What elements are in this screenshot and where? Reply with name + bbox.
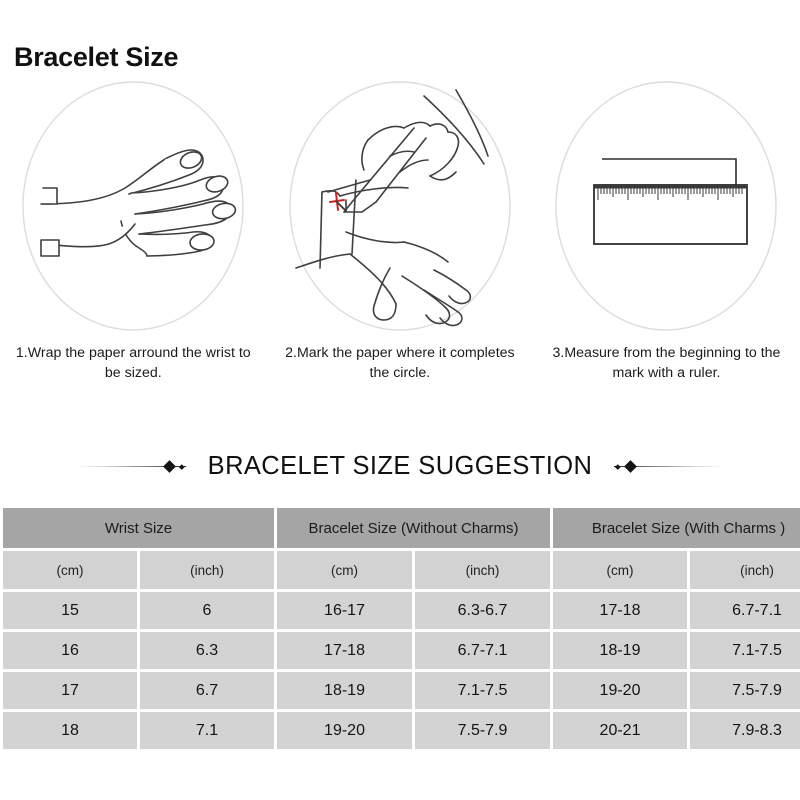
- bracelet-size-table: Wrist Size Bracelet Size (Without Charms…: [0, 505, 800, 752]
- table-cell: 18-19: [553, 632, 687, 669]
- table-cell: 18: [3, 712, 137, 749]
- table-cell: 7.1-7.5: [690, 632, 800, 669]
- section-title-row: BRACELET SIZE SUGGESTION: [0, 452, 800, 481]
- steps-row: 1.Wrap the paper arround the wrist to be…: [0, 80, 800, 383]
- table-cell: 6.7-7.1: [415, 632, 550, 669]
- ruler-measuring-paper-illustration: [550, 80, 782, 335]
- table-cell: 16: [3, 632, 137, 669]
- section-title: BRACELET SIZE SUGGESTION: [186, 452, 615, 481]
- table-cell: 18-19: [277, 672, 412, 709]
- step-wrap-paper: 1.Wrap the paper arround the wrist to be…: [0, 80, 267, 383]
- table-cell: 7.5-7.9: [690, 672, 800, 709]
- step-caption: 3.Measure from the beginning to the mark…: [548, 343, 784, 383]
- ornament-rule-left-icon: [74, 460, 186, 474]
- hand-with-paper-strip-illustration: [17, 80, 249, 335]
- table-group-header-row: Wrist Size Bracelet Size (Without Charms…: [3, 508, 800, 548]
- step-caption: 2.Mark the paper where it completes the …: [282, 343, 518, 383]
- step-caption: 1.Wrap the paper arround the wrist to be…: [15, 343, 251, 383]
- table-cell: 6.7-7.1: [690, 592, 800, 629]
- table-unit-header: (cm): [553, 551, 687, 589]
- table-cell: 20-21: [553, 712, 687, 749]
- table-row: 16 6.3 17-18 6.7-7.1 18-19 7.1-7.5: [3, 632, 800, 669]
- table-unit-header: (inch): [690, 551, 800, 589]
- table-cell: 6.7: [140, 672, 274, 709]
- table-unit-header-row: (cm) (inch) (cm) (inch) (cm) (inch): [3, 551, 800, 589]
- table-cell: 17: [3, 672, 137, 709]
- table-cell: 16-17: [277, 592, 412, 629]
- table-cell: 19-20: [277, 712, 412, 749]
- table-cell: 17-18: [277, 632, 412, 669]
- step-mark-paper: 2.Mark the paper where it completes the …: [267, 80, 534, 383]
- table-cell: 7.1: [140, 712, 274, 749]
- table-unit-header: (cm): [277, 551, 412, 589]
- table-cell: 6.3: [140, 632, 274, 669]
- ornament-rule-right-icon: [614, 460, 726, 474]
- step-measure-ruler: 3.Measure from the beginning to the mark…: [533, 80, 800, 383]
- table-group-header: Bracelet Size (Without Charms): [277, 508, 550, 548]
- page-title: Bracelet Size: [14, 44, 178, 71]
- table-unit-header: (inch): [415, 551, 550, 589]
- table-group-header: Bracelet Size (With Charms ): [553, 508, 800, 548]
- table-row: 17 6.7 18-19 7.1-7.5 19-20 7.5-7.9: [3, 672, 800, 709]
- table-cell: 7.9-8.3: [690, 712, 800, 749]
- table-cell: 7.5-7.9: [415, 712, 550, 749]
- table-row: 18 7.1 19-20 7.5-7.9 20-21 7.9-8.3: [3, 712, 800, 749]
- table-group-header: Wrist Size: [3, 508, 274, 548]
- table-row: 15 6 16-17 6.3-6.7 17-18 6.7-7.1: [3, 592, 800, 629]
- table-cell: 15: [3, 592, 137, 629]
- table-cell: 7.1-7.5: [415, 672, 550, 709]
- table-unit-header: (inch): [140, 551, 274, 589]
- table-cell: 6: [140, 592, 274, 629]
- table-cell: 17-18: [553, 592, 687, 629]
- table-cell: 6.3-6.7: [415, 592, 550, 629]
- table-cell: 19-20: [553, 672, 687, 709]
- hand-marking-paper-with-pen-illustration: [284, 80, 516, 335]
- table-unit-header: (cm): [3, 551, 137, 589]
